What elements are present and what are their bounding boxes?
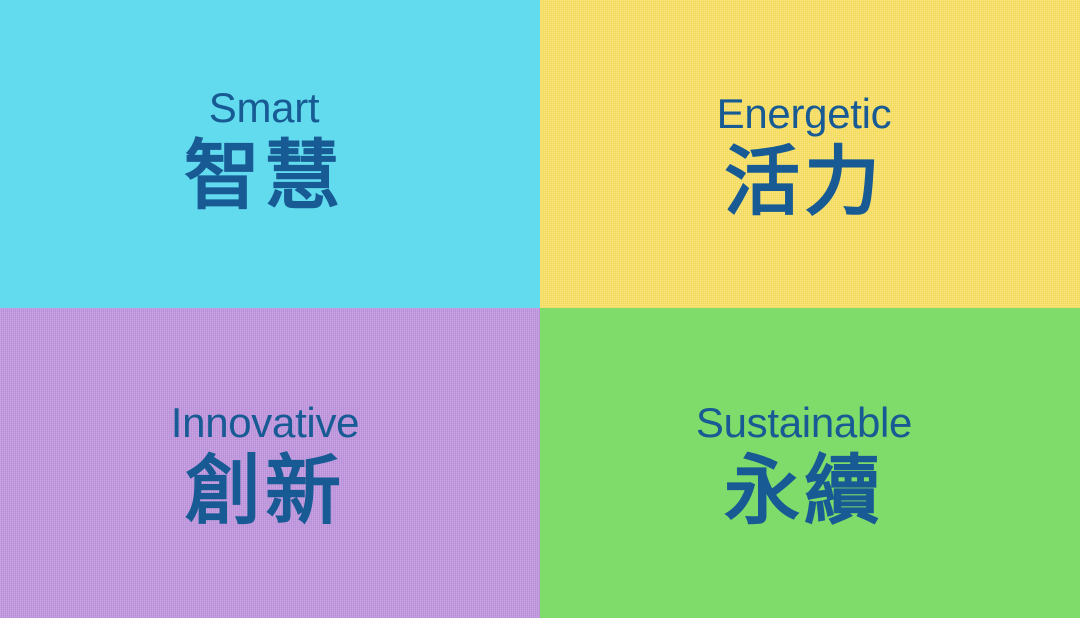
panel-energetic: Energetic 活力 bbox=[540, 0, 1080, 308]
panel-innovative-content: Innovative 創新 bbox=[171, 401, 359, 533]
panel-smart-content: Smart 智慧 bbox=[184, 86, 344, 218]
panel-energetic-content: Energetic 活力 bbox=[717, 92, 892, 224]
panel-smart: Smart 智慧 bbox=[0, 0, 540, 308]
panel-smart-label-en: Smart bbox=[209, 86, 320, 130]
brand-value-quadrant-board: Smart 智慧 Energetic 活力 Innovative 創新 Sust… bbox=[0, 0, 1080, 618]
panel-energetic-label-zh: 活力 bbox=[724, 142, 884, 224]
panel-innovative: Innovative 創新 bbox=[0, 308, 540, 618]
panel-innovative-label-zh: 創新 bbox=[185, 451, 345, 533]
panel-sustainable-label-en: Sustainable bbox=[696, 401, 912, 445]
panel-sustainable: Sustainable 永續 bbox=[540, 308, 1080, 618]
panel-sustainable-content: Sustainable 永續 bbox=[696, 401, 912, 533]
panel-smart-label-zh: 智慧 bbox=[184, 136, 344, 218]
panel-energetic-label-en: Energetic bbox=[717, 92, 892, 136]
panel-sustainable-label-zh: 永續 bbox=[724, 451, 884, 533]
panel-innovative-label-en: Innovative bbox=[171, 401, 359, 445]
